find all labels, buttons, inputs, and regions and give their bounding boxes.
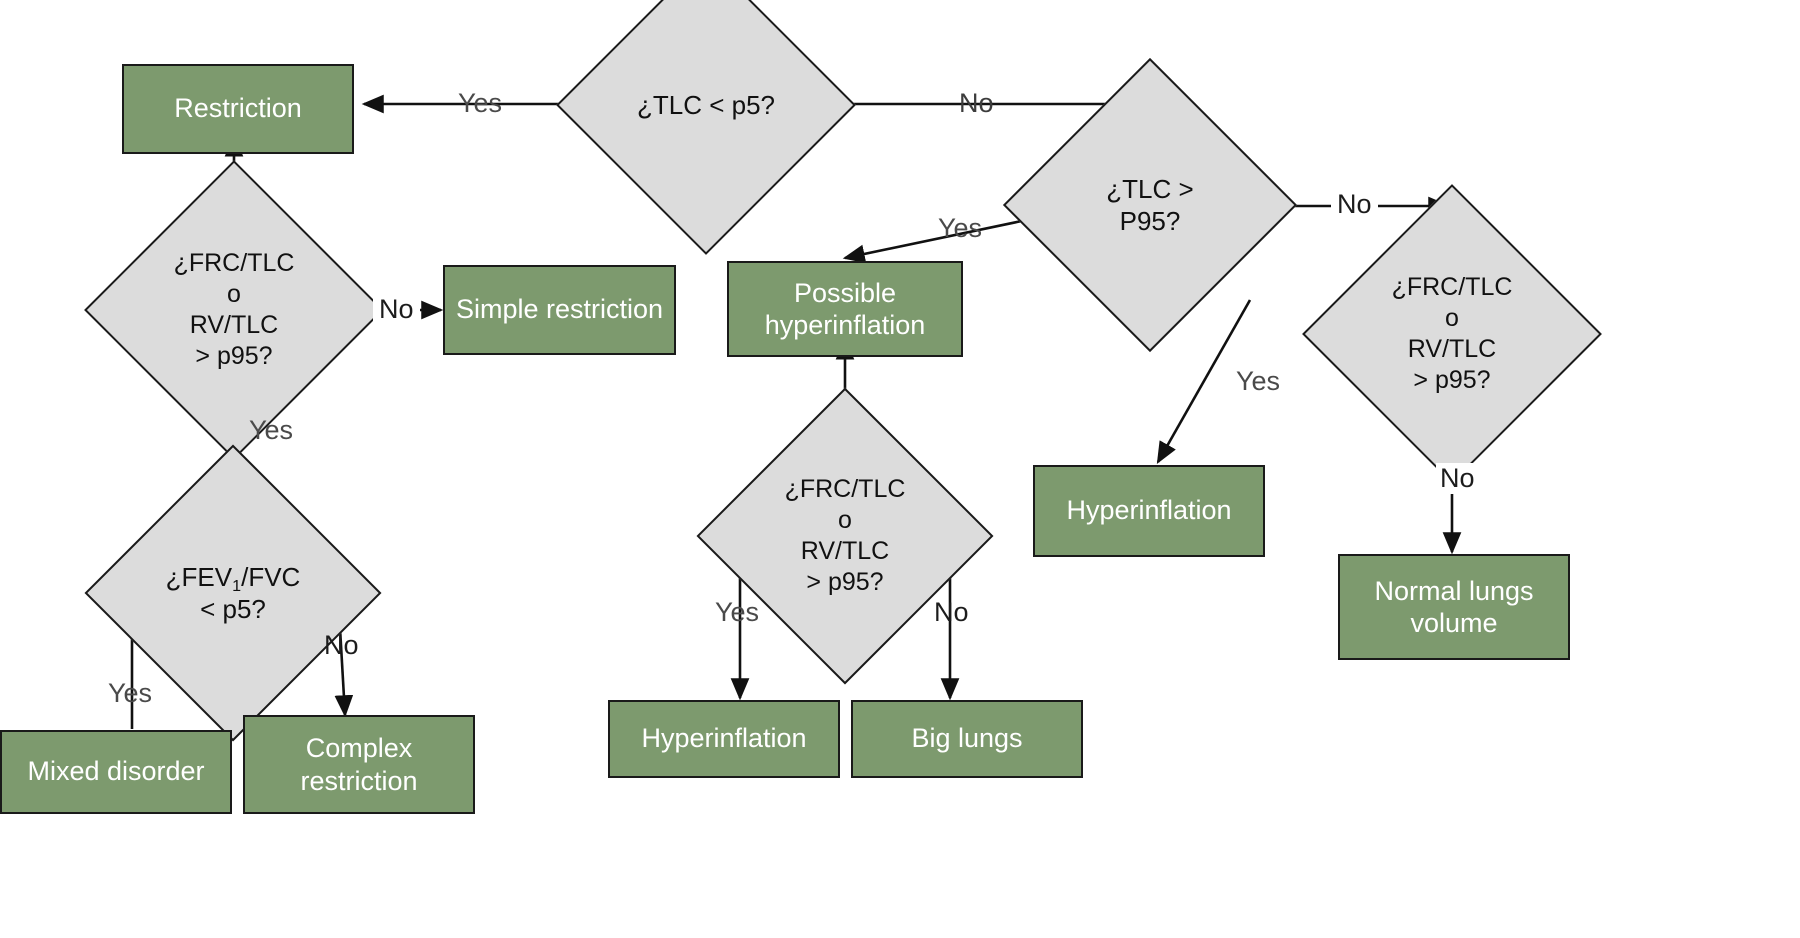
decision-tlc-lt-p5-label: ¿TLC < p5? [600,0,812,211]
edge-label-frc-left-yes: Yes [249,415,293,446]
process-simple-restriction[interactable]: Simple restriction [443,265,676,355]
edge-label-frc-right-no: No [1436,463,1479,494]
decision-frc-rv-left-label: ¿FRC/TLC o RV/TLC > p95? [128,204,340,416]
process-complex-restriction[interactable]: Complex restriction [243,715,475,814]
process-mixed-disorder-label: Mixed disorder [27,756,204,787]
process-possible-hyperinflation-line1: Possible [794,277,896,309]
edge-label-fev1-yes: Yes [108,678,152,709]
edge-label-frc-center-yes: Yes [715,597,759,628]
edge-label-frc-right-yes: Yes [1236,366,1280,397]
decision-fev1-fvc[interactable]: ¿FEV1/FVC< p5? [128,488,338,698]
process-possible-hyperinflation[interactable]: Possible hyperinflation [727,261,963,357]
process-simple-restriction-label: Simple restriction [456,294,663,325]
process-hyperinflation-center-label: Hyperinflation [641,723,806,754]
edge-label-frc-left-no: No [373,294,420,325]
process-complex-restriction-line2: restriction [300,765,417,797]
process-big-lungs-label: Big lungs [911,723,1022,754]
edge-label-tlc-p5-no: No [959,88,994,119]
process-restriction-label: Restriction [174,93,302,124]
decision-tlc-gt-p95-label: ¿TLC > P95? [1046,101,1254,309]
decision-tlc-gt-p95[interactable]: ¿TLC > P95? [1046,101,1254,309]
process-big-lungs[interactable]: Big lungs [851,700,1083,778]
decision-frc-rv-left[interactable]: ¿FRC/TLC o RV/TLC > p95? [128,204,340,416]
process-normal-lungs-volume[interactable]: Normal lungs volume [1338,554,1570,660]
decision-tlc-lt-p5[interactable]: ¿TLC < p5? [600,0,812,211]
process-hyperinflation-center[interactable]: Hyperinflation [608,700,840,778]
decision-frc-rv-center-label: ¿FRC/TLC o RV/TLC > p95? [740,431,950,641]
process-complex-restriction-line1: Complex [306,732,413,764]
process-mixed-disorder[interactable]: Mixed disorder [0,730,232,814]
edge-label-fev1-no: No [324,630,359,661]
decision-frc-rv-center[interactable]: ¿FRC/TLC o RV/TLC > p95? [740,431,950,641]
edge-label-frc-center-no: No [934,597,969,628]
edge-label-tlc-p95-no: No [1331,189,1378,220]
decision-frc-rv-right-label: ¿FRC/TLC o RV/TLC > p95? [1346,228,1558,440]
process-hyperinflation-right[interactable]: Hyperinflation [1033,465,1265,557]
process-hyperinflation-right-label: Hyperinflation [1066,495,1231,526]
process-normal-lungs-volume-line1: Normal lungs [1374,575,1533,607]
decision-fev1-fvc-label: ¿FEV1/FVC< p5? [128,488,338,698]
edge-label-tlc-p95-yes: Yes [938,213,982,244]
process-restriction[interactable]: Restriction [122,64,354,154]
decision-frc-rv-right[interactable]: ¿FRC/TLC o RV/TLC > p95? [1346,228,1558,440]
process-normal-lungs-volume-line2: volume [1410,607,1497,639]
process-possible-hyperinflation-line2: hyperinflation [765,309,926,341]
flowchart-canvas: ¿TLC < p5? Restriction ¿FRC/TLC o RV/TLC… [0,0,1800,938]
edge-label-tlc-p5-yes: Yes [458,88,502,119]
